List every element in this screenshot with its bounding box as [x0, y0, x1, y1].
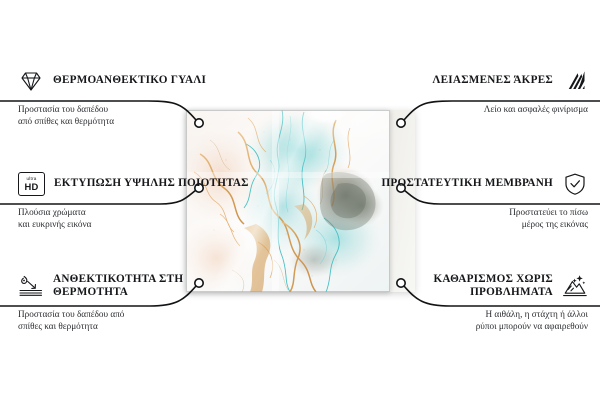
feature-body-line: Λείο και ασφαλές φινίρισμα — [350, 103, 588, 115]
diagonal-stripes-icon — [562, 69, 588, 93]
sparkle-wipe-icon — [562, 274, 588, 298]
feature-high-quality-print: ultra HD ΕΚΤΥΠΩΣΗ ΥΨΗΛΗΣ ΠΟΙΟΤΗΤΑΣ Πλούσ… — [0, 167, 250, 230]
feature-protective-membrane: ΠΡΟΣΤΑΤΕΥΤΙΚΗ ΜΕΜΒΡΑΝΗ Προστατεύει το πί… — [350, 167, 600, 230]
flame-deflect-icon — [18, 274, 44, 298]
feature-body-line: Η αιθάλη, η στάχτη ή άλλοι — [350, 308, 588, 320]
feature-body-line: Προστασία του δαπέδου — [18, 103, 250, 115]
infographic-root: ΘΕΡΜΟΑΝΘΕΚΤΙΚΟ ΓΥΑΛΙ Προστασία του δαπέδ… — [0, 0, 600, 400]
feature-header: ΠΡΟΣΤΑΤΕΥΤΙΚΗ ΜΕΜΒΡΑΝΗ — [350, 167, 600, 201]
ultra-hd-badge-icon: ultra HD — [18, 172, 45, 196]
ultra-hd-badge-main-text: HD — [25, 182, 39, 191]
feature-header: ΛΕΙΑΣΜΕΝΕΣ ΆΚΡΕΣ — [350, 64, 600, 98]
feature-heat-resistant-glass: ΘΕΡΜΟΑΝΘΕΚΤΙΚΟ ΓΥΑΛΙ Προστασία του δαπέδ… — [0, 64, 250, 127]
feature-easy-cleaning: ΚΑΘΑΡΙΣΜΟΣ ΧΩΡΙΣ ΠΡΟΒΛΗΜΑΤΑ Η αιθάλη, η … — [350, 269, 600, 332]
feature-header: ΑΝΘΕΚΤΙΚΟΤΗΤΑ ΣΤΗ ΘΕΡΜΟΤΗΤΑ — [0, 269, 250, 303]
feature-body-line: ρύποι μπορούν να αφαιρεθούν — [350, 320, 588, 332]
feature-header: ΘΕΡΜΟΑΝΘΕΚΤΙΚΟ ΓΥΑΛΙ — [0, 64, 250, 98]
feature-body-line: Προστασία του δαπέδου από — [18, 308, 250, 320]
shield-check-icon — [562, 172, 588, 196]
feature-title: ΛΕΙΑΣΜΕΝΕΣ ΆΚΡΕΣ — [432, 74, 553, 87]
feature-title: ΘΕΡΜΟΑΝΘΕΚΤΙΚΟ ΓΥΑΛΙ — [53, 74, 206, 87]
feature-body: Προστασία του δαπέδου από σπίθες και θερ… — [0, 98, 250, 127]
feature-title: ΑΝΘΕΚΤΙΚΟΤΗΤΑ ΣΤΗ ΘΕΡΜΟΤΗΤΑ — [53, 273, 250, 300]
feature-title: ΕΚΤΥΠΩΣΗ ΥΨΗΛΗΣ ΠΟΙΟΤΗΤΑΣ — [54, 177, 249, 190]
feature-body-line: σπίθες και θερμότητα — [18, 320, 250, 332]
feature-body-line: μέρος της εικόνας — [350, 218, 588, 230]
feature-header: ΚΑΘΑΡΙΣΜΟΣ ΧΩΡΙΣ ΠΡΟΒΛΗΜΑΤΑ — [350, 269, 600, 303]
feature-title: ΠΡΟΣΤΑΤΕΥΤΙΚΗ ΜΕΜΒΡΑΝΗ — [381, 177, 553, 190]
feature-body-line: Πλούσια χρώματα — [18, 206, 250, 218]
feature-body: Προστασία του δαπέδου από σπίθες και θερ… — [0, 303, 250, 332]
feature-polished-edges: ΛΕΙΑΣΜΕΝΕΣ ΆΚΡΕΣ Λείο και ασφαλές φινίρι… — [350, 64, 600, 115]
diamond-icon — [18, 69, 44, 93]
feature-body: Η αιθάλη, η στάχτη ή άλλοι ρύποι μπορούν… — [350, 303, 600, 332]
feature-header: ultra HD ΕΚΤΥΠΩΣΗ ΥΨΗΛΗΣ ΠΟΙΟΤΗΤΑΣ — [0, 167, 250, 201]
feature-title: ΚΑΘΑΡΙΣΜΟΣ ΧΩΡΙΣ ΠΡΟΒΛΗΜΑΤΑ — [350, 273, 553, 300]
feature-body-line: Προστατεύει το πίσω — [350, 206, 588, 218]
feature-body-line: και ευκρινής εικόνα — [18, 218, 250, 230]
feature-body: Προστατεύει το πίσω μέρος της εικόνας — [350, 201, 600, 230]
feature-body: Πλούσια χρώματα και ευκρινής εικόνα — [0, 201, 250, 230]
feature-body-line: από σπίθες και θερμότητα — [18, 115, 250, 127]
feature-heat-durability: ΑΝΘΕΚΤΙΚΟΤΗΤΑ ΣΤΗ ΘΕΡΜΟΤΗΤΑ Προστασία το… — [0, 269, 250, 332]
feature-body: Λείο και ασφαλές φινίρισμα — [350, 98, 600, 115]
